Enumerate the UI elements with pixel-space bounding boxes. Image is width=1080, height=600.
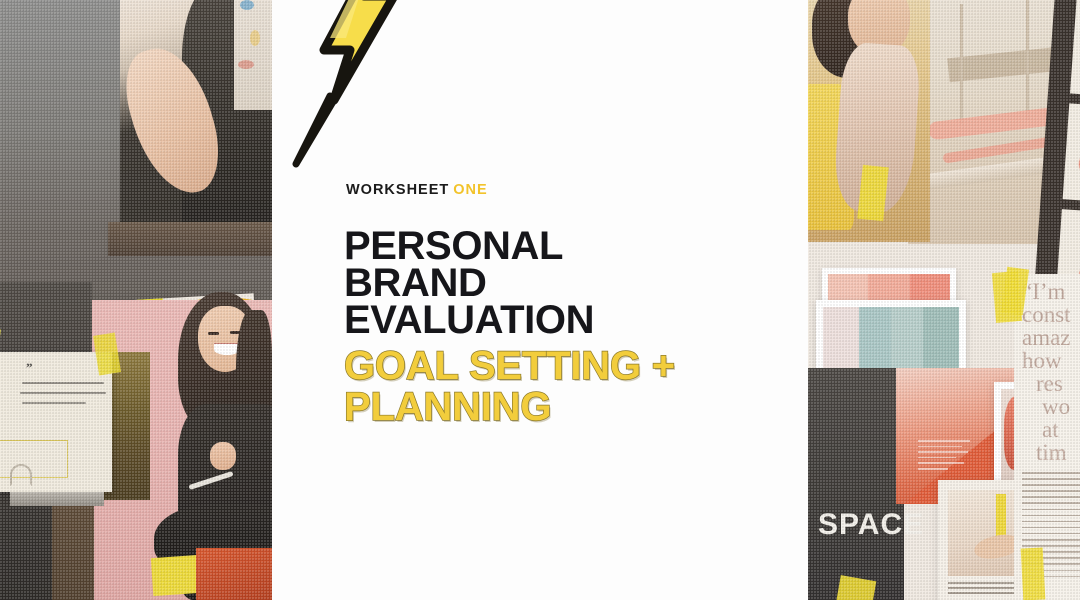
- eyebrow-label: WORKSHEETONE: [346, 182, 488, 198]
- worksheet-cover: GLASS STAIRCASE ”: [0, 0, 1080, 600]
- mood-board-right: SPACE: [808, 0, 1080, 600]
- subhead-line-1: GOAL SETTING +: [344, 346, 784, 387]
- pull-quote-line: res: [1022, 372, 1080, 395]
- page-title: PERSONAL BRAND EVALUATION: [344, 228, 774, 339]
- pull-quote-line: “I’m: [1022, 280, 1080, 303]
- space-poster-block: [808, 368, 904, 600]
- space-poster-word: SPACE: [818, 508, 924, 542]
- quote-mark: ”: [26, 360, 32, 376]
- pull-quote-line: amaz: [1022, 326, 1080, 349]
- headline-line-1: PERSONAL: [344, 228, 774, 265]
- pull-quote-line: wo: [1022, 395, 1080, 418]
- page-subtitle: GOAL SETTING + PLANNING: [344, 346, 784, 428]
- mood-board-left: GLASS STAIRCASE ”: [0, 0, 272, 600]
- lightning-bolt-icon: [290, 0, 412, 168]
- wood-shelf: [108, 222, 272, 256]
- pull-quote-line: const: [1022, 303, 1080, 326]
- pull-quote-line: tim: [1022, 441, 1080, 464]
- handwritten-quote-card: ”: [0, 352, 112, 492]
- title-panel: WORKSHEETONE PERSONAL BRAND EVALUATION G…: [272, 0, 808, 600]
- top-photo-person: [120, 0, 270, 230]
- pull-quote-line: how: [1022, 349, 1080, 372]
- pull-quote-line: at: [1022, 418, 1080, 441]
- tape-strip: [1021, 547, 1046, 600]
- subhead-line-2: PLANNING: [344, 387, 784, 428]
- orange-photo-corner: [196, 548, 272, 600]
- eyebrow-accent: ONE: [453, 182, 487, 198]
- headline-line-2: BRAND: [344, 265, 774, 302]
- eyebrow-primary: WORKSHEET: [346, 182, 449, 198]
- headline-line-3: EVALUATION: [344, 302, 774, 339]
